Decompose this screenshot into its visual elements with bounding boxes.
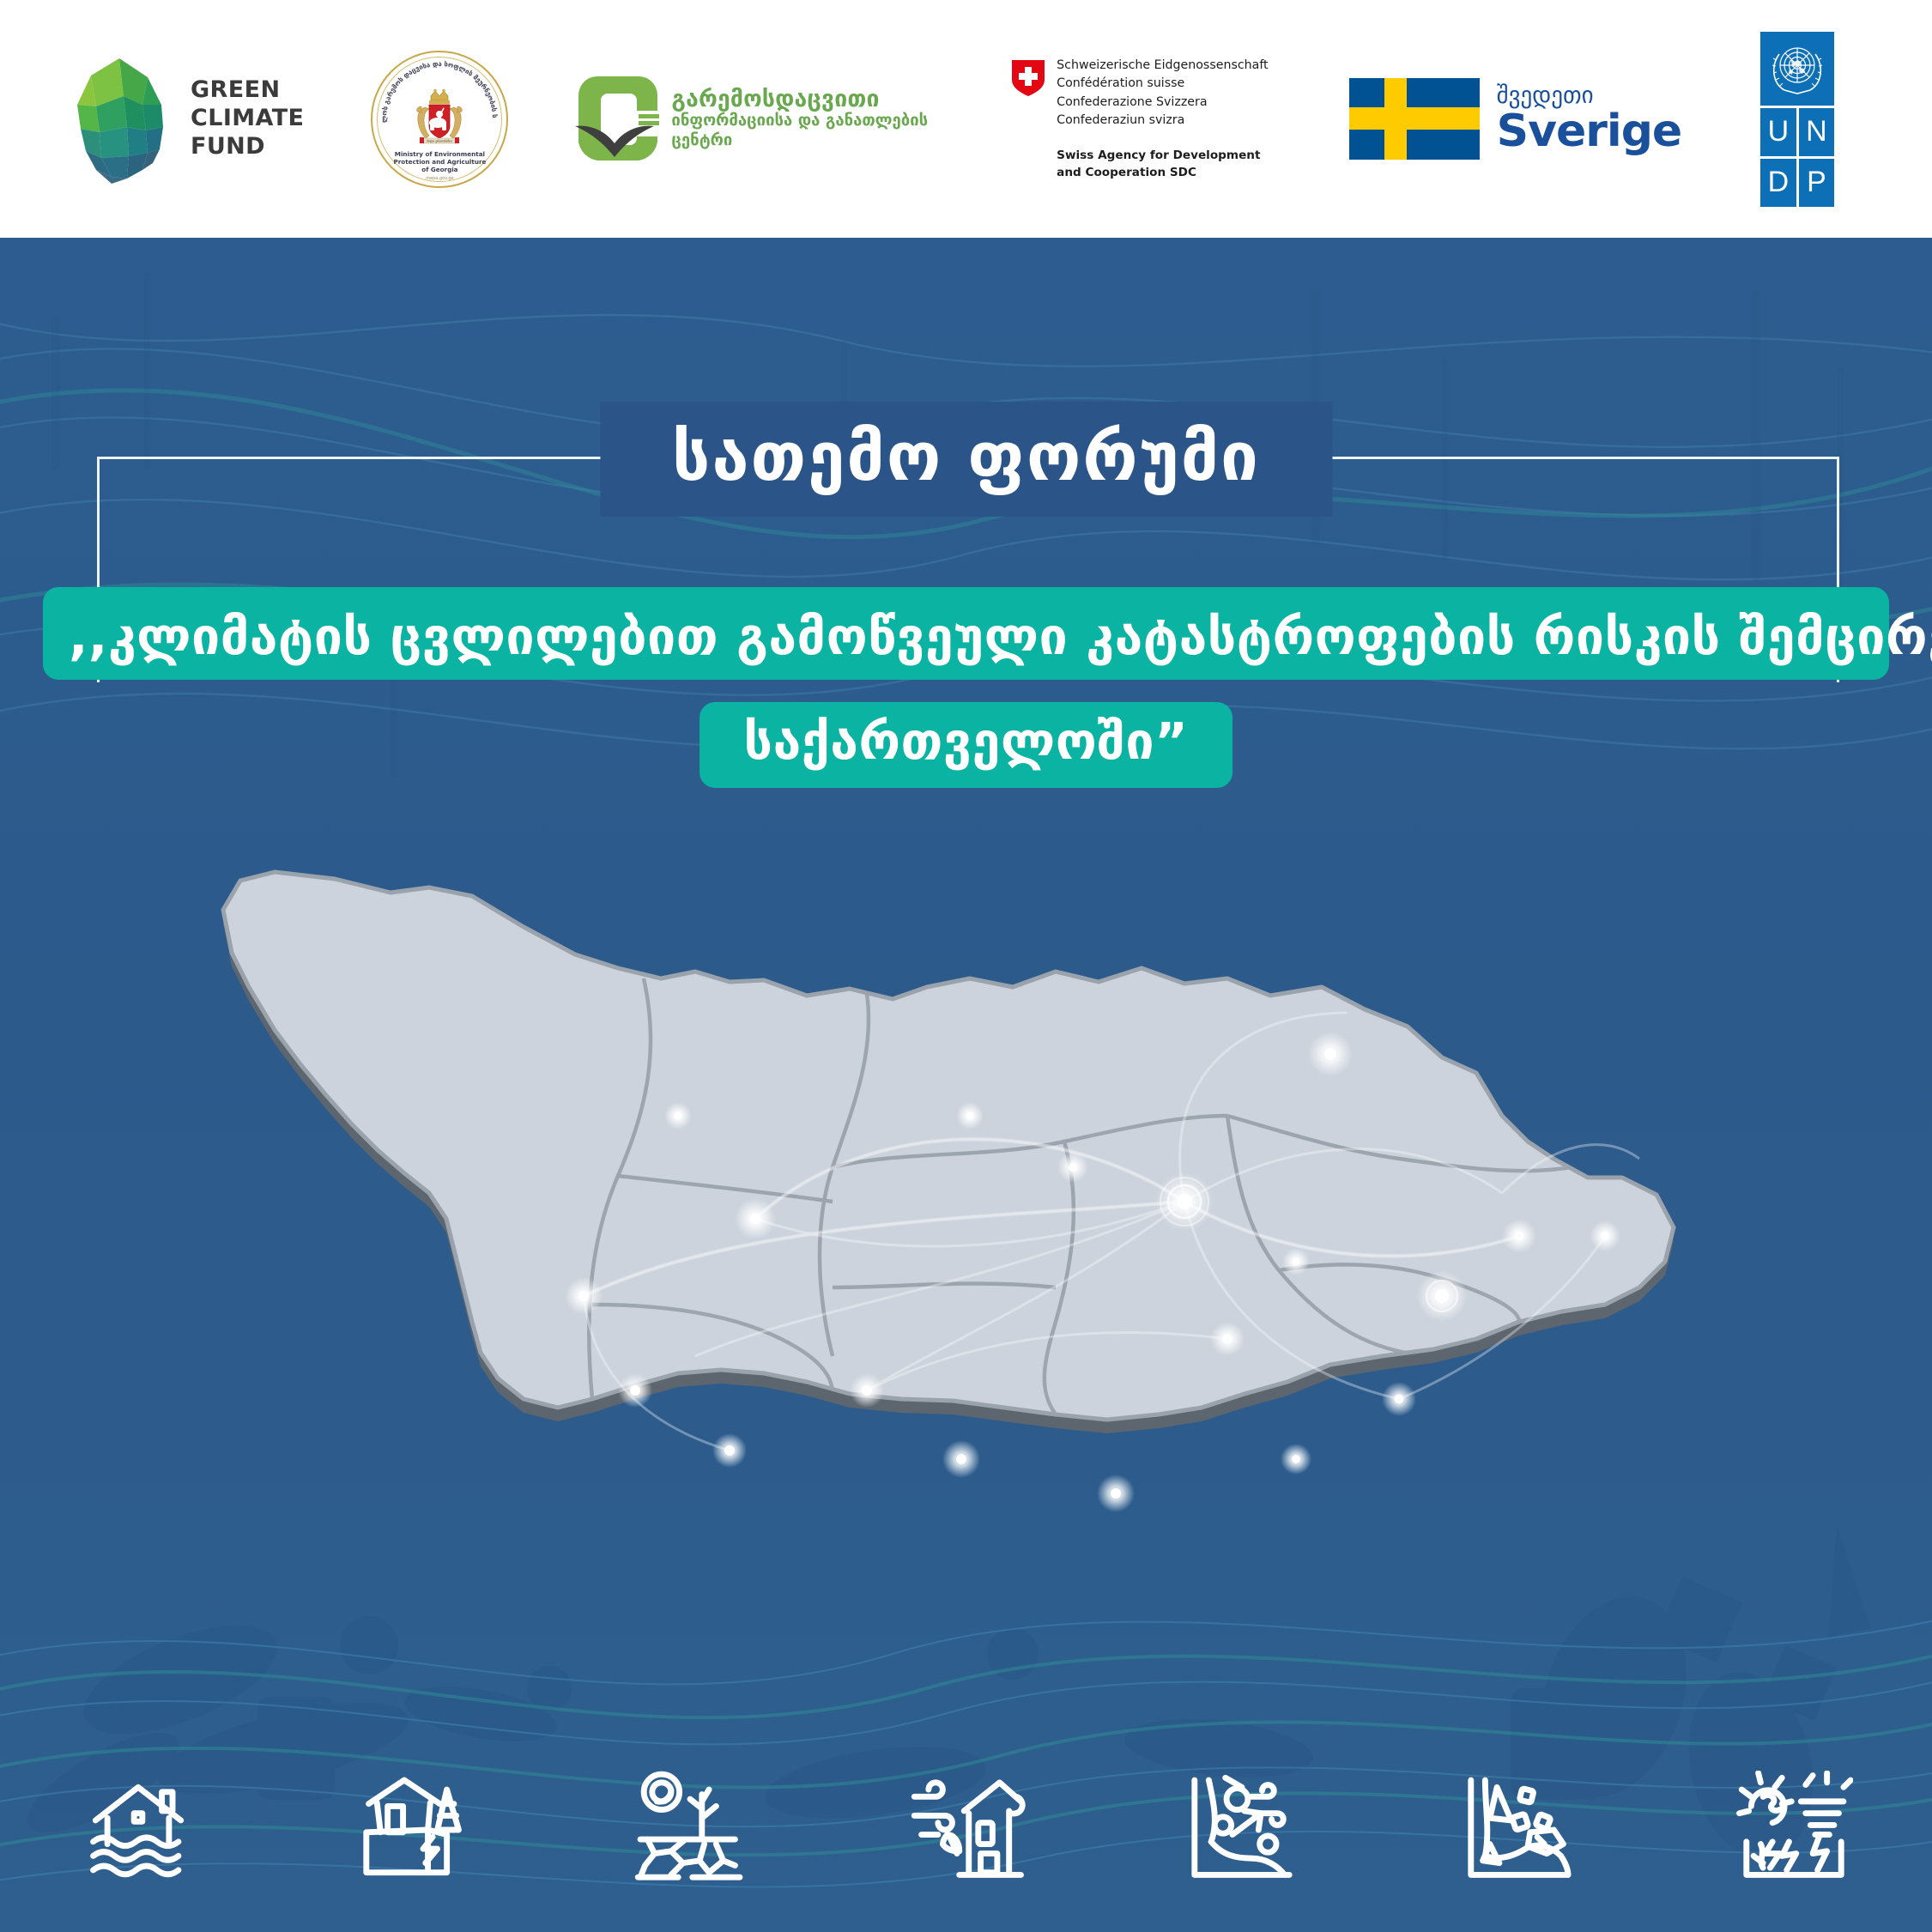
wildfire-tornado-icon: [1656, 1771, 1932, 1889]
green-climate-fund-sphere-icon: [67, 55, 172, 184]
ministry-sub-1: Ministry of Environmental: [371, 150, 508, 158]
undp-letter-p: P: [1799, 159, 1835, 207]
logo-green-climate-fund: GREEN CLIMATE FUND: [67, 0, 304, 238]
partner-logo-header: GREEN CLIMATE FUND საქართველოს გარემოს დ…: [0, 0, 1932, 238]
swiss-lang-de: Schweizerische Eidgenossenschaft: [1057, 57, 1268, 76]
logo-sweden: შვედეთი Sverige: [1349, 0, 1682, 238]
swiss-lang-fr: Confédération suisse: [1057, 75, 1268, 94]
gcf-line-3: FUND: [191, 133, 304, 161]
project-title-banner-line2: საქართველოში”: [700, 702, 1233, 788]
ministry-sub-3: of Georgia: [371, 166, 508, 173]
svg-text:ძალა ერთობაშია: ძალა ერთობაშია: [427, 139, 452, 142]
undp-letter-u: U: [1760, 108, 1796, 156]
page-title: სათემო ფორუმი: [672, 424, 1260, 491]
georgia-map-svg: [215, 858, 1759, 1717]
swiss-cross-shield-icon: [1012, 60, 1045, 96]
ministry-seal-icon: საქართველოს გარემოს დაცვისა და სოფლის მე…: [371, 51, 508, 188]
sdc-line-2: and Cooperation SDC: [1057, 165, 1268, 182]
swiss-lang-rm: Confederaziun svizra: [1057, 112, 1268, 130]
logo-undp: U N D P: [1760, 0, 1834, 238]
logo-environmental-information-education-centre: გარემოსდაცვითი ინფორმაციისა და განათლები…: [570, 0, 928, 238]
undp-letter-d: D: [1760, 159, 1796, 207]
gcf-line-2: CLIMATE: [191, 105, 304, 133]
georgia-map: [215, 858, 1759, 1717]
sweden-name-georgian: შვედეთი: [1497, 84, 1682, 107]
rockfall-icon: [1380, 1771, 1656, 1889]
eiec-line-1: გარემოსდაცვითი: [671, 88, 928, 112]
project-title-line-1: ,,კლიმატის ცვლილებით გამოწვეული კატასტრო…: [69, 609, 1863, 664]
drought-icon: [552, 1771, 828, 1889]
project-title-banner-line1: ,,კლიმატის ცვლილებით გამოწვეული კატასტრო…: [43, 587, 1889, 680]
ministry-seal-subtitle: Ministry of Environmental Protection and…: [371, 150, 508, 174]
forum-title-badge: სათემო ფორუმი: [600, 402, 1332, 517]
sweden-name-latin: Sverige: [1497, 109, 1682, 154]
undp-letter-n: N: [1799, 108, 1835, 156]
united-nations-emblem-icon: [1760, 32, 1834, 106]
ministry-seal-url: mepa.gov.ge: [371, 176, 508, 181]
swiss-agency-name: Swiss Agency for Development and Coopera…: [1057, 148, 1268, 181]
logo-swiss-agency-development-cooperation: Schweizerische Eidgenossenschaft Confédé…: [1012, 0, 1268, 238]
eiec-book-leaf-icon: [570, 75, 659, 164]
windstorm-icon: [828, 1771, 1105, 1889]
gcf-line-1: GREEN: [191, 76, 304, 105]
swiss-language-names: Schweizerische Eidgenossenschaft Confédé…: [1057, 57, 1268, 130]
erosion-icon: [1104, 1771, 1380, 1889]
disaster-type-icon-row: [0, 1748, 1932, 1911]
landslide-house-icon: [276, 1771, 553, 1889]
georgia-coat-of-arms-icon: ძალა ერთობაშია: [403, 88, 476, 150]
project-title-line-2: საქართველოში”: [744, 714, 1189, 769]
sdc-line-1: Swiss Agency for Development: [1057, 148, 1268, 165]
eiec-line-2: ინფორმაციისა და განათლების: [671, 112, 928, 130]
eiec-line-3: ცენტრი: [671, 131, 928, 150]
swiss-lang-it: Confederazione Svizzera: [1057, 94, 1268, 112]
green-climate-fund-wordmark: GREEN CLIMATE FUND: [191, 76, 304, 161]
flood-icon: [0, 1771, 276, 1889]
logo-ministry-of-environment-georgia: საქართველოს გარემოს დაცვისა და სოფლის მე…: [371, 0, 508, 238]
sweden-flag-icon: [1349, 78, 1480, 160]
undp-letter-blocks: U N D P: [1760, 108, 1834, 207]
ministry-sub-2: Protection and Agriculture: [371, 158, 508, 166]
